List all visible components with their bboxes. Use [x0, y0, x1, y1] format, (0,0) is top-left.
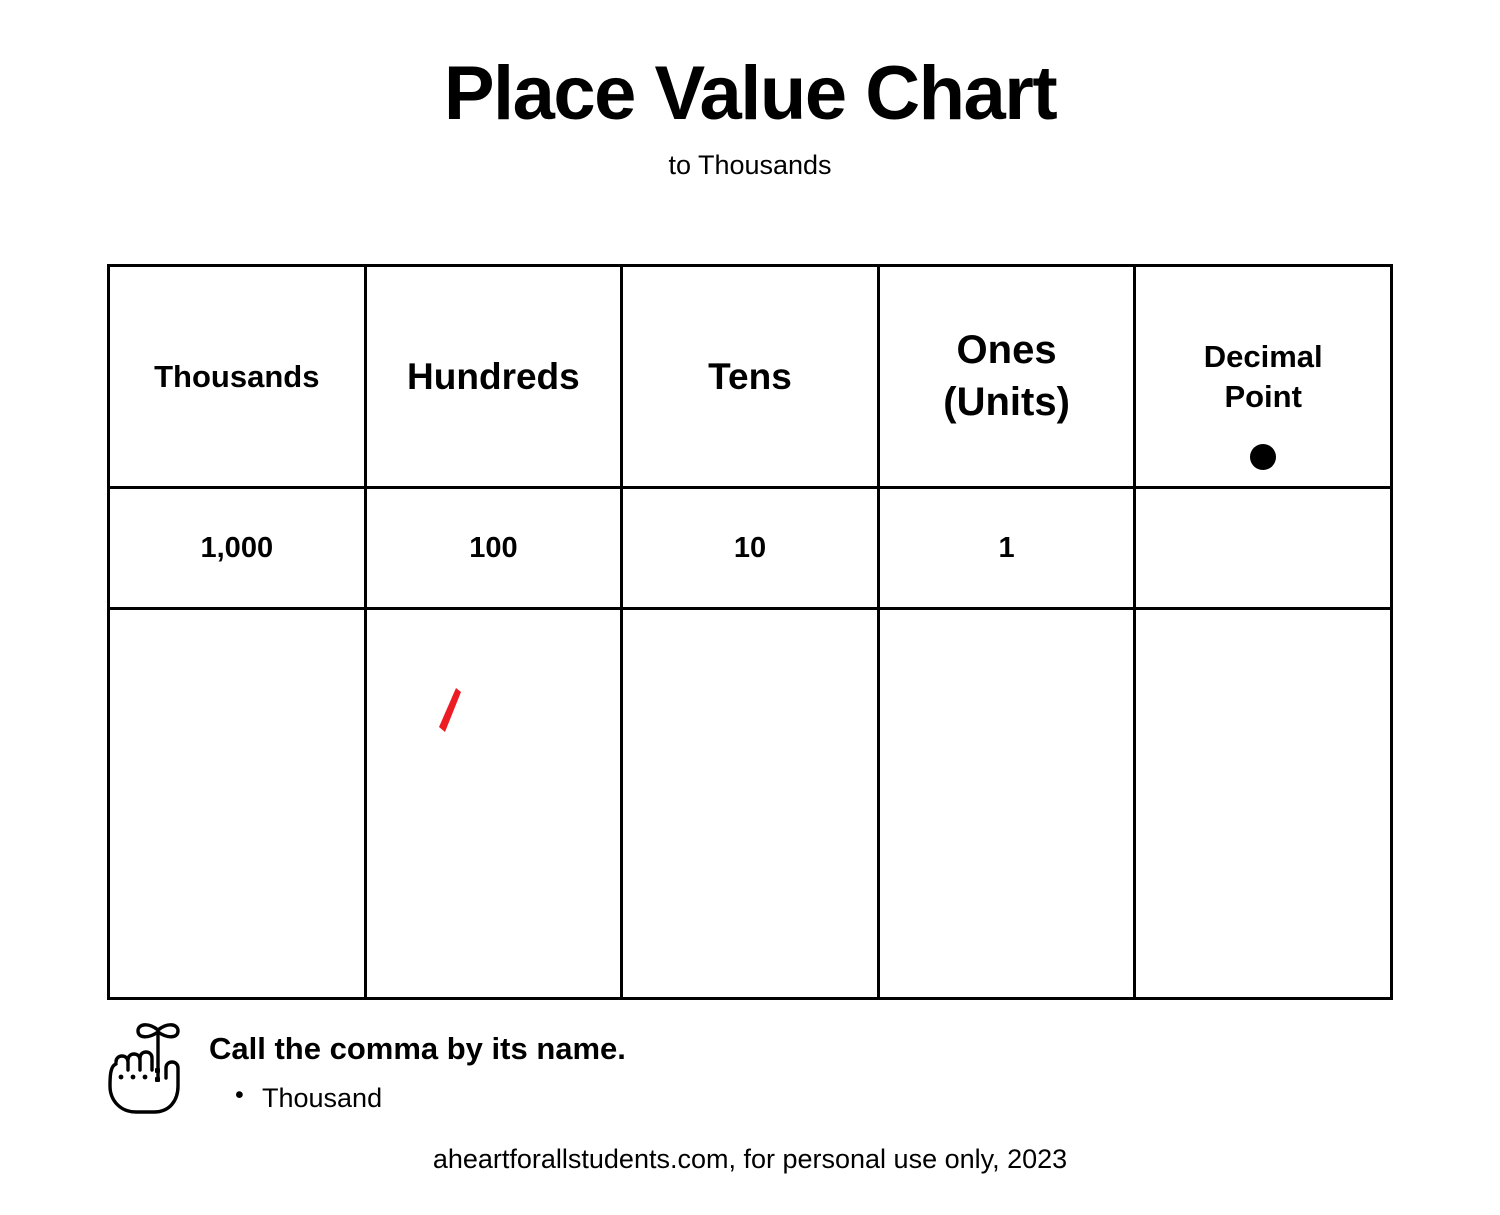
header-cell-ones: Ones (Units)	[878, 266, 1135, 488]
page-subtitle: to Thousands	[0, 150, 1500, 181]
copyright-line: aheartforallstudents.com, for personal u…	[0, 1144, 1500, 1175]
list-item: Thousand	[209, 1082, 989, 1114]
reminder-note-text: Call the comma by its name. Thousand	[209, 1032, 989, 1114]
header-cell-decimal-point: Decimal Point	[1135, 266, 1392, 488]
place-value-table: Thousands Hundreds Tens Ones (Un	[107, 264, 1393, 1000]
finger-with-string-reminder-icon	[104, 1016, 196, 1116]
table-row-headers: Thousands Hundreds Tens Ones (Un	[109, 266, 1392, 488]
table-row-values: 1,000 100 10 1	[109, 488, 1392, 609]
reminder-note: Call the comma by its name. Thousand	[104, 1014, 1004, 1124]
header-cell-hundreds: Hundreds	[365, 266, 622, 488]
header-label-tens-line1: Tens	[623, 353, 877, 400]
value-cell-hundreds: 100	[365, 488, 622, 609]
decimal-point-dot-icon	[1250, 444, 1276, 470]
header-label-ones-line1: Ones	[880, 325, 1134, 376]
place-value-chart: Thousands Hundreds Tens Ones (Un	[107, 264, 1393, 997]
header-label-decimal-line1: Decimal	[1136, 337, 1390, 377]
blank-cell-ones[interactable]	[878, 609, 1135, 999]
value-cell-ones: 1	[878, 488, 1135, 609]
header-label-thousands-line1: Thousands	[110, 357, 364, 397]
header-label-hundreds-line1: Hundreds	[367, 353, 621, 400]
blank-cell-hundreds[interactable]	[365, 609, 622, 999]
value-cell-tens: 10	[622, 488, 879, 609]
header-label-ones-line2: (Units)	[880, 377, 1134, 428]
blank-cell-thousands[interactable]	[109, 609, 366, 999]
blank-cell-decimal-point[interactable]	[1135, 609, 1392, 999]
header-cell-thousands: Thousands	[109, 266, 366, 488]
reminder-note-heading: Call the comma by its name.	[209, 1032, 989, 1066]
table-row-blank	[109, 609, 1392, 999]
header-label-decimal-line2: Point	[1136, 377, 1390, 417]
blank-cell-tens[interactable]	[622, 609, 879, 999]
value-label-tens: 10	[623, 532, 877, 565]
value-cell-thousands: 1,000	[109, 488, 366, 609]
value-label-hundreds: 100	[367, 532, 621, 565]
reminder-note-list: Thousand	[209, 1082, 989, 1114]
value-label-thousands: 1,000	[110, 532, 364, 565]
header-cell-tens: Tens	[622, 266, 879, 488]
page-title: Place Value Chart	[0, 56, 1500, 132]
value-label-ones: 1	[880, 532, 1134, 565]
value-cell-decimal-point	[1135, 488, 1392, 609]
